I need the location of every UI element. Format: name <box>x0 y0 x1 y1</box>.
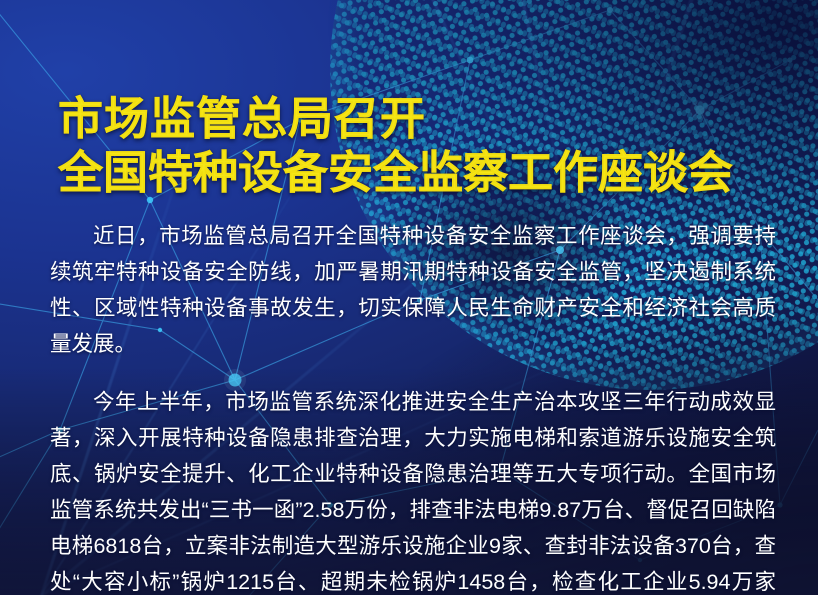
news-poster: 市场监管总局召开 全国特种设备安全监察工作座谈会 近日，市场监管总局召开全国特种… <box>0 0 818 595</box>
article-paragraph-1: 近日，市场监管总局召开全国特种设备安全监察工作座谈会，强调要持续筑牢特种设备安全… <box>50 218 776 362</box>
article-paragraph-2: 今年上半年，市场监管系统深化推进安全生产治本攻坚三年行动成效显著，深入开展特种设… <box>50 384 776 595</box>
page-title-line-1: 市场监管总局召开 <box>58 92 758 146</box>
article-body: 近日，市场监管总局召开全国特种设备安全监察工作座谈会，强调要持续筑牢特种设备安全… <box>50 218 776 595</box>
page-title: 市场监管总局召开 全国特种设备安全监察工作座谈会 <box>58 92 758 200</box>
page-title-line-2: 全国特种设备安全监察工作座谈会 <box>58 146 758 200</box>
